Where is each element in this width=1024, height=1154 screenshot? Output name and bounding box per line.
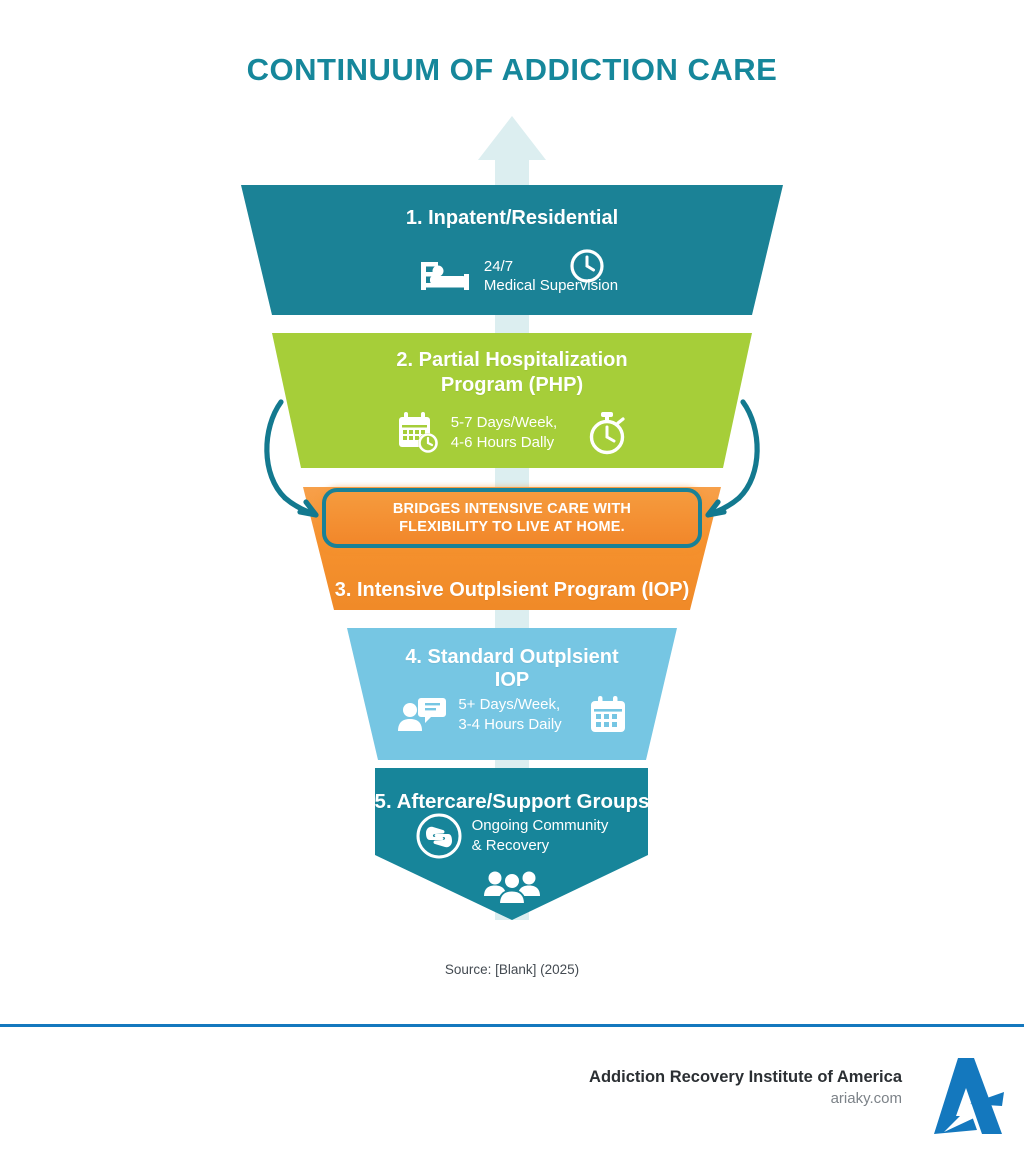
stage-5-detail-line1: Ongoing Community xyxy=(472,816,609,836)
source-note: Source: [Blank] (2025) xyxy=(0,962,1024,977)
infographic-canvas: CONTINUUM OF ADDICTION CARE 1. Inpatent/… xyxy=(0,0,1024,1154)
stage-5-detail-row: Ongoing Community & Recovery xyxy=(0,810,1024,862)
footer-text: Addiction Recovery Institute of America … xyxy=(589,1066,902,1110)
footer: Addiction Recovery Institute of America … xyxy=(0,1040,1024,1154)
website-url: ariaky.com xyxy=(589,1088,902,1110)
stage-5-detail-line2: & Recovery xyxy=(472,836,609,856)
curved-arrow-group xyxy=(0,380,1024,540)
curved-arrow-right xyxy=(739,402,757,498)
organization-name: Addiction Recovery Institute of America xyxy=(589,1066,902,1088)
curved-arrow-left xyxy=(267,402,285,498)
helping-hands-icon xyxy=(416,813,462,859)
ariaky-logo-icon[interactable] xyxy=(914,1054,1006,1140)
stage-5-group-icon-row xyxy=(0,864,1024,908)
footer-divider xyxy=(0,1024,1024,1027)
group-people-icon xyxy=(483,866,541,906)
